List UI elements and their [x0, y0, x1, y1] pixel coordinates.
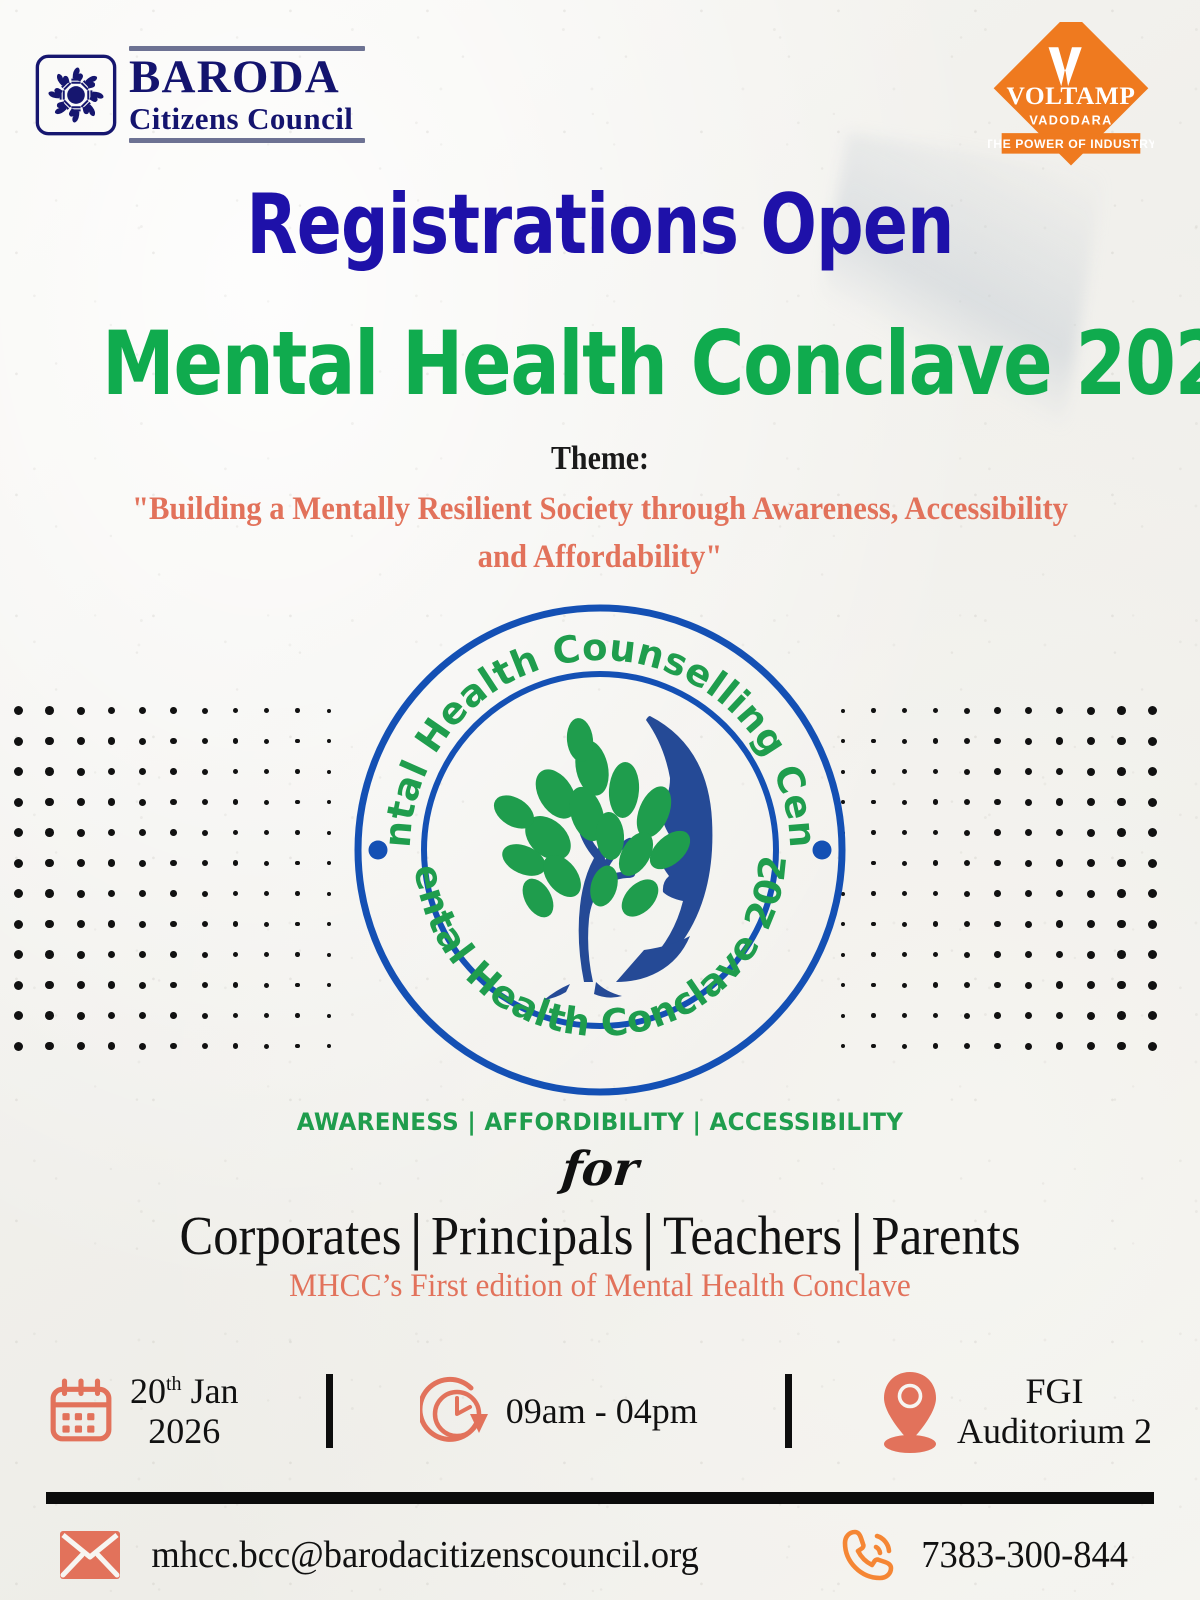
- grid-dot: [45, 828, 54, 837]
- grid-dot: [77, 829, 85, 837]
- grid-dot: [77, 768, 85, 776]
- grid-dot: [994, 860, 1001, 867]
- grid-dot: [902, 708, 907, 713]
- grid-dot: [1117, 737, 1126, 746]
- grid-dot: [108, 768, 116, 776]
- contact-email[interactable]: mhcc.bcc@barodacitizenscouncil.org: [58, 1529, 710, 1581]
- grid-dot: [45, 767, 54, 776]
- grid-dot: [327, 709, 331, 713]
- grid-dot: [264, 983, 269, 988]
- voltamp-city: VADODARA: [1029, 113, 1112, 127]
- grid-dot: [139, 707, 146, 714]
- grid-dot: [902, 800, 907, 805]
- grid-dot: [1025, 829, 1032, 836]
- grid-dot: [1117, 859, 1126, 868]
- grid-dot: [45, 981, 54, 990]
- grid-dot: [994, 707, 1001, 714]
- grid-dot: [994, 982, 1001, 989]
- info-divider-2: [785, 1374, 792, 1448]
- voltamp-sponsor-logo: VOLTAMP VADODARA THE POWER OF INDUSTRY: [988, 22, 1154, 172]
- grid-dot: [933, 982, 939, 988]
- audience-item: Corporates: [179, 1205, 401, 1266]
- grid-dot: [871, 1044, 876, 1049]
- grid-dot: [871, 952, 876, 957]
- grid-dot: [233, 738, 239, 744]
- grid-dot: [964, 982, 970, 988]
- audience-separator: |: [851, 1199, 862, 1271]
- info-time-text: 09am - 04pm: [506, 1391, 698, 1431]
- grid-dot: [327, 1044, 331, 1048]
- grid-dot: [964, 769, 970, 775]
- grid-dot: [1056, 951, 1064, 959]
- grid-dot: [933, 891, 939, 897]
- grid-dot: [964, 952, 970, 958]
- grid-dot: [933, 799, 939, 805]
- grid-dot: [327, 953, 331, 957]
- grid-dot: [233, 921, 239, 927]
- grid-dot: [933, 769, 939, 775]
- grid-dot: [964, 1013, 970, 1019]
- grid-dot: [1117, 1011, 1126, 1020]
- grid-dot: [202, 830, 208, 836]
- grid-dot: [902, 1044, 907, 1049]
- grid-dot: [933, 952, 939, 958]
- email-address[interactable]: mhcc.bcc@barodacitizenscouncil.org: [151, 1533, 698, 1577]
- info-date-day: 20: [130, 1371, 166, 1411]
- grid-dot: [1056, 798, 1064, 806]
- tree-head-profile-icon: [488, 716, 712, 1000]
- grid-dot: [933, 921, 939, 927]
- grid-dot: [1056, 1042, 1064, 1050]
- grid-dot: [1056, 859, 1064, 867]
- grid-dot: [170, 829, 177, 836]
- grid-dot: [1056, 737, 1064, 745]
- grid-dot: [327, 831, 331, 835]
- grid-dot: [871, 708, 876, 713]
- dot-grid-left: [14, 706, 350, 1066]
- grid-dot: [14, 889, 23, 898]
- grid-dot: [233, 769, 239, 775]
- grid-dot: [964, 921, 970, 927]
- info-item-date: 20th Jan 2026: [48, 1371, 239, 1452]
- grid-dot: [1117, 706, 1126, 715]
- grid-dot: [264, 952, 269, 957]
- grid-dot: [14, 1042, 23, 1051]
- grid-dot: [1148, 828, 1157, 837]
- grid-dot: [170, 860, 177, 867]
- grid-dot: [1025, 890, 1032, 897]
- grid-dot: [871, 800, 876, 805]
- grid-dot: [1025, 768, 1032, 775]
- grid-dot: [202, 891, 208, 897]
- grid-dot: [871, 739, 876, 744]
- grid-dot: [994, 1043, 1001, 1050]
- info-date-ordinal: th: [166, 1373, 182, 1395]
- grid-dot: [139, 768, 146, 775]
- grid-dot: [994, 1012, 1001, 1019]
- grid-dot: [327, 770, 331, 774]
- grid-dot: [233, 799, 239, 805]
- grid-dot: [108, 798, 116, 806]
- grid-dot: [964, 860, 970, 866]
- grid-dot: [77, 951, 85, 959]
- grid-dot: [233, 982, 239, 988]
- info-venue-line2: Auditorium 2: [957, 1411, 1152, 1451]
- grid-dot: [1087, 798, 1095, 806]
- grid-dot: [14, 828, 23, 837]
- grid-dot: [902, 769, 907, 774]
- grid-dot: [202, 769, 208, 775]
- mhcc-emblem: Mental Health Counselling Center Mental …: [348, 598, 852, 1102]
- grid-dot: [264, 922, 269, 927]
- grid-dot: [139, 860, 146, 867]
- grid-dot: [964, 830, 970, 836]
- grid-dot: [902, 922, 907, 927]
- grid-dot: [1117, 889, 1126, 898]
- grid-dot: [295, 922, 300, 927]
- grid-dot: [1087, 859, 1095, 867]
- grid-dot: [14, 920, 23, 929]
- audience-separator: |: [643, 1199, 654, 1271]
- grid-dot: [1148, 798, 1157, 807]
- grid-dot: [77, 890, 85, 898]
- grid-dot: [871, 769, 876, 774]
- grid-dot: [964, 708, 970, 714]
- grid-dot: [1025, 738, 1032, 745]
- grid-dot: [45, 889, 54, 898]
- theme-label: Theme:: [72, 440, 1128, 478]
- grid-dot: [170, 799, 177, 806]
- grid-dot: [1025, 982, 1032, 989]
- grid-dot: [233, 1043, 239, 1049]
- grid-dot: [295, 1013, 300, 1018]
- grid-dot: [1025, 951, 1032, 958]
- grid-dot: [139, 829, 146, 836]
- for-word: for: [0, 1142, 1200, 1197]
- info-date-month: Jan: [191, 1371, 239, 1411]
- grid-dot: [14, 737, 23, 746]
- grid-dot: [45, 1042, 54, 1051]
- grid-dot: [108, 737, 116, 745]
- grid-dot: [964, 1043, 970, 1049]
- calendar-icon: [48, 1378, 114, 1444]
- grid-dot: [1087, 1012, 1095, 1020]
- grid-dot: [964, 799, 970, 805]
- voltamp-name: VOLTAMP: [1006, 82, 1135, 110]
- grid-dot: [295, 769, 300, 774]
- grid-dot: [327, 739, 331, 743]
- grid-dot: [1148, 859, 1157, 868]
- grid-dot: [1148, 889, 1157, 898]
- grid-dot: [1148, 737, 1157, 746]
- info-item-time: 09am - 04pm: [420, 1376, 698, 1446]
- grid-dot: [1148, 1042, 1157, 1051]
- grid-dot: [327, 983, 331, 987]
- grid-dot: [1056, 768, 1064, 776]
- grid-dot: [327, 1014, 331, 1018]
- grid-dot: [139, 982, 146, 989]
- grid-dot: [1025, 1043, 1032, 1050]
- baroda-citizens-council-logo: BARODA Citizens Council: [34, 46, 365, 143]
- grid-dot: [1025, 1012, 1032, 1019]
- grid-dot: [77, 798, 85, 806]
- edition-subnote: MHCC’s First edition of Mental Health Co…: [30, 1268, 1170, 1305]
- grid-dot: [202, 1013, 208, 1019]
- grid-dot: [45, 859, 54, 868]
- location-pin-icon: [879, 1368, 941, 1454]
- grid-dot: [77, 920, 85, 928]
- grid-dot: [327, 861, 331, 865]
- grid-dot: [1087, 890, 1095, 898]
- grid-dot: [1117, 981, 1126, 990]
- grid-dot: [45, 1011, 54, 1020]
- info-venue-text: FGI Auditorium 2: [957, 1371, 1152, 1452]
- grid-dot: [108, 1042, 116, 1050]
- grid-dot: [14, 706, 23, 715]
- grid-dot: [1025, 921, 1032, 928]
- grid-dot: [233, 1013, 239, 1019]
- grid-dot: [1025, 799, 1032, 806]
- grid-dot: [933, 738, 939, 744]
- grid-dot: [77, 1042, 85, 1050]
- event-info-strip: 20th Jan 2026 09am - 04pm FGI: [48, 1352, 1152, 1470]
- grid-dot: [264, 830, 269, 835]
- grid-dot: [871, 891, 876, 896]
- audience-item: Teachers: [663, 1205, 842, 1266]
- phone-icon: [839, 1524, 901, 1586]
- grid-dot: [77, 859, 85, 867]
- theme-statement: "Building a Mentally Resilient Society t…: [131, 486, 1068, 581]
- info-divider-1: [326, 1374, 333, 1448]
- grid-dot: [139, 951, 146, 958]
- grid-dot: [139, 890, 146, 897]
- contact-phone[interactable]: 7383-300-844: [839, 1524, 1132, 1586]
- grid-dot: [1025, 707, 1032, 714]
- grid-dot: [933, 1013, 939, 1019]
- grid-dot: [170, 738, 177, 745]
- grid-dot: [1148, 981, 1157, 990]
- grid-dot: [139, 738, 146, 745]
- grid-dot: [902, 739, 907, 744]
- grid-dot: [994, 890, 1001, 897]
- grid-dot: [295, 830, 300, 835]
- grid-dot: [871, 1013, 876, 1018]
- grid-dot: [233, 708, 239, 714]
- grid-dot: [933, 830, 939, 836]
- grid-dot: [170, 921, 177, 928]
- grid-dot: [994, 921, 1001, 928]
- grid-dot: [233, 952, 239, 958]
- grid-dot: [994, 799, 1001, 806]
- grid-dot: [202, 921, 208, 927]
- grid-dot: [77, 737, 85, 745]
- grid-dot: [964, 891, 970, 897]
- grid-dot: [202, 952, 208, 958]
- grid-dot: [1025, 860, 1032, 867]
- grid-dot: [170, 890, 177, 897]
- grid-dot: [1117, 798, 1126, 807]
- grid-dot: [170, 707, 177, 714]
- page-title-conclave: Mental Health Conclave 2026: [102, 312, 1098, 415]
- grid-dot: [295, 891, 300, 896]
- info-venue-line1: FGI: [1025, 1371, 1083, 1411]
- grid-dot: [1117, 920, 1126, 929]
- grid-dot: [994, 829, 1001, 836]
- grid-dot: [902, 952, 907, 957]
- grid-dot: [45, 737, 54, 746]
- grid-dot: [994, 768, 1001, 775]
- grid-dot: [902, 861, 907, 866]
- audience-item: Parents: [872, 1205, 1021, 1266]
- grid-dot: [202, 708, 208, 714]
- grid-dot: [295, 983, 300, 988]
- grid-dot: [108, 859, 116, 867]
- audience-separator: |: [411, 1199, 422, 1271]
- grid-dot: [77, 1012, 85, 1020]
- grid-dot: [14, 798, 23, 807]
- grid-dot: [1148, 1011, 1157, 1020]
- grid-dot: [264, 891, 269, 896]
- grid-dot: [1087, 829, 1095, 837]
- grid-dot: [45, 706, 54, 715]
- grid-dot: [264, 739, 269, 744]
- envelope-icon: [58, 1529, 122, 1581]
- grid-dot: [139, 921, 146, 928]
- grid-dot: [295, 861, 300, 866]
- grid-dot: [994, 951, 1001, 958]
- grid-dot: [264, 708, 269, 713]
- footer-divider-rule: [46, 1492, 1154, 1504]
- grid-dot: [170, 1012, 177, 1019]
- grid-dot: [902, 1013, 907, 1018]
- grid-dot: [264, 861, 269, 866]
- grid-dot: [964, 738, 970, 744]
- grid-dot: [108, 981, 116, 989]
- grid-dot: [170, 951, 177, 958]
- poster-canvas: BARODA Citizens Council VOLTAMP VADODARA…: [0, 0, 1200, 1600]
- pillars-line: AWARENESS | AFFORDIBILITY | ACCESSIBILIT…: [24, 1108, 1176, 1136]
- grid-dot: [295, 952, 300, 957]
- grid-dot: [1148, 920, 1157, 929]
- grid-dot: [1087, 951, 1095, 959]
- grid-dot: [871, 830, 876, 835]
- grid-dot: [170, 768, 177, 775]
- grid-dot: [14, 859, 23, 868]
- grid-dot: [139, 1012, 146, 1019]
- grid-dot: [1087, 920, 1095, 928]
- grid-dot: [77, 981, 85, 989]
- grid-dot: [139, 1043, 146, 1050]
- grid-dot: [994, 738, 1001, 745]
- grid-dot: [1056, 920, 1064, 928]
- grid-dot: [1087, 707, 1095, 715]
- grid-dot: [202, 982, 208, 988]
- audience-item: Principals: [431, 1205, 633, 1266]
- clock-icon: [420, 1376, 490, 1446]
- grid-dot: [1148, 950, 1157, 959]
- grid-dot: [233, 830, 239, 836]
- hands-circle-icon: [34, 53, 118, 137]
- grid-dot: [871, 922, 876, 927]
- grid-dot: [933, 1043, 939, 1049]
- phone-number[interactable]: 7383-300-844: [921, 1533, 1128, 1577]
- grid-dot: [233, 860, 239, 866]
- grid-dot: [233, 891, 239, 897]
- audience-list: Corporates|Principals|Teachers|Parents: [48, 1204, 1152, 1267]
- grid-dot: [1148, 706, 1157, 715]
- grid-dot: [871, 983, 876, 988]
- grid-dot: [327, 800, 331, 804]
- grid-dot: [871, 861, 876, 866]
- grid-dot: [139, 799, 146, 806]
- grid-dot: [108, 951, 116, 959]
- grid-dot: [264, 1013, 269, 1018]
- grid-dot: [1117, 1042, 1126, 1051]
- grid-dot: [45, 920, 54, 929]
- grid-dot: [295, 739, 300, 744]
- info-date-year: 2026: [148, 1411, 220, 1451]
- grid-dot: [1117, 950, 1126, 959]
- grid-dot: [77, 707, 85, 715]
- grid-dot: [1056, 981, 1064, 989]
- grid-dot: [1087, 768, 1095, 776]
- grid-dot: [264, 1044, 269, 1049]
- grid-dot: [327, 922, 331, 926]
- grid-dot: [14, 950, 23, 959]
- voltamp-tagline: THE POWER OF INDUSTRY: [988, 137, 1154, 151]
- grid-dot: [202, 1043, 208, 1049]
- grid-dot: [1087, 737, 1095, 745]
- grid-dot: [1117, 767, 1126, 776]
- grid-dot: [1117, 828, 1126, 837]
- dot-grid-right: [838, 706, 1174, 1066]
- grid-dot: [108, 890, 116, 898]
- grid-dot: [1056, 1012, 1064, 1020]
- grid-dot: [14, 981, 23, 990]
- grid-dot: [902, 891, 907, 896]
- grid-dot: [295, 708, 300, 713]
- info-item-venue: FGI Auditorium 2: [879, 1368, 1152, 1454]
- grid-dot: [202, 799, 208, 805]
- grid-dot: [902, 830, 907, 835]
- grid-dot: [108, 829, 116, 837]
- contact-footer: mhcc.bcc@barodacitizenscouncil.org 7383-…: [58, 1518, 1142, 1592]
- grid-dot: [14, 767, 23, 776]
- grid-dot: [1056, 829, 1064, 837]
- grid-dot: [108, 1012, 116, 1020]
- grid-dot: [327, 892, 331, 896]
- grid-dot: [202, 860, 208, 866]
- grid-dot: [14, 1011, 23, 1020]
- grid-dot: [295, 800, 300, 805]
- bcc-name-line1: BARODA: [129, 54, 365, 102]
- grid-dot: [45, 798, 54, 807]
- grid-dot: [264, 800, 269, 805]
- grid-dot: [902, 983, 907, 988]
- bcc-name-line2: Citizens Council: [129, 102, 365, 135]
- grid-dot: [202, 738, 208, 744]
- grid-dot: [1148, 767, 1157, 776]
- bcc-wordmark: BARODA Citizens Council: [129, 46, 365, 143]
- grid-dot: [45, 950, 54, 959]
- grid-dot: [1087, 1042, 1095, 1050]
- bcc-rule-bottom: [129, 138, 365, 143]
- grid-dot: [933, 860, 939, 866]
- voltamp-diamond-icon: VOLTAMP VADODARA THE POWER OF INDUSTRY: [988, 22, 1154, 166]
- grid-dot: [1087, 981, 1095, 989]
- grid-dot: [1056, 890, 1064, 898]
- grid-dot: [170, 1043, 177, 1050]
